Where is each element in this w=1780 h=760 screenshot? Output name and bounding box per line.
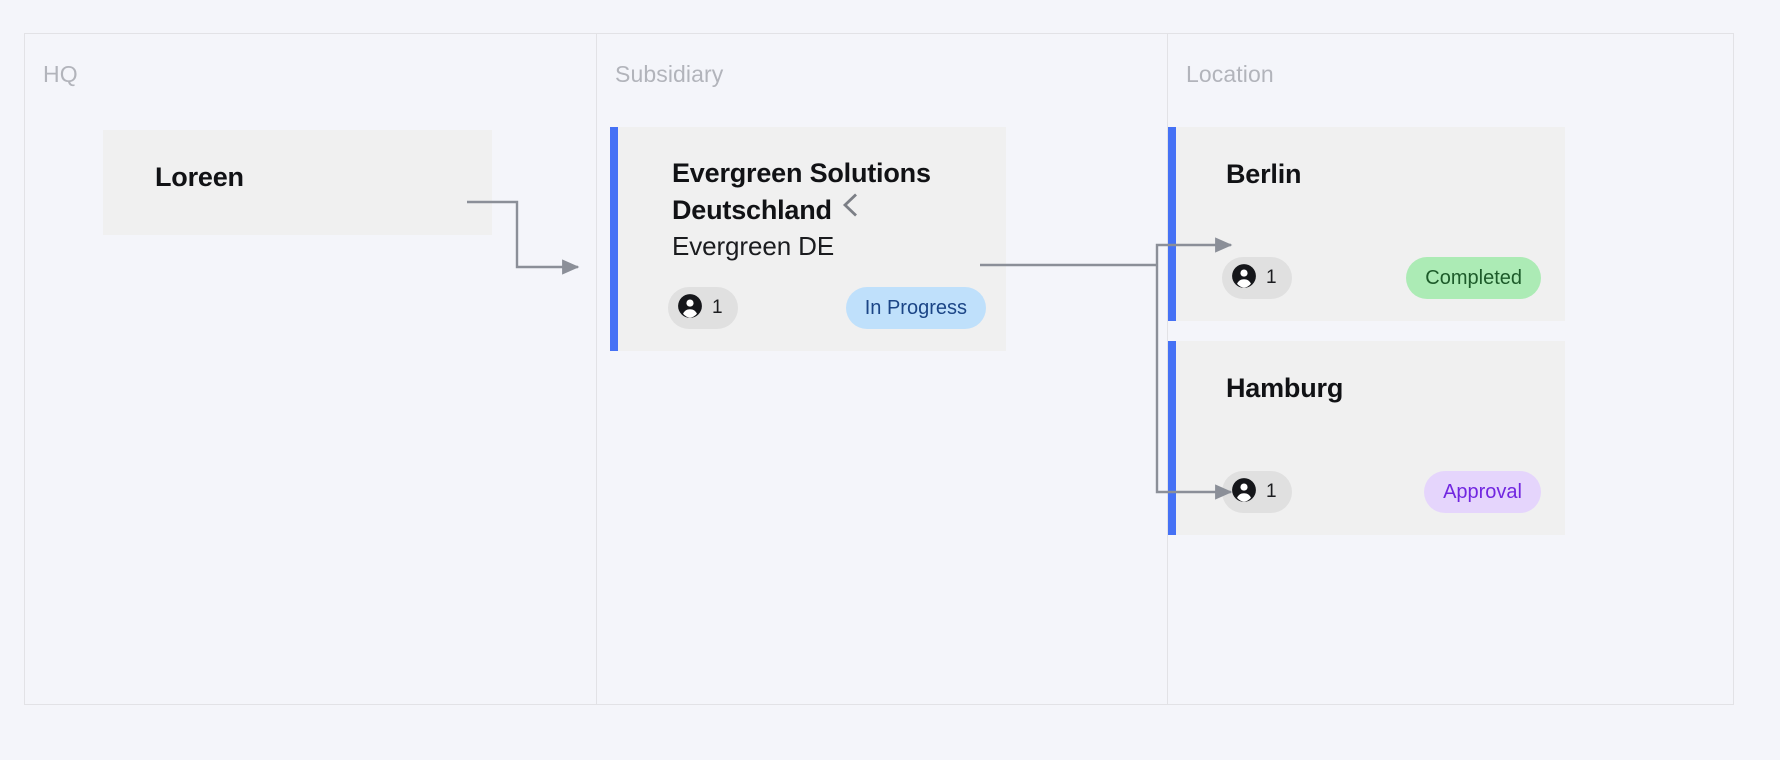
card-accent-bar: [1168, 341, 1176, 535]
card-evergreen-solutions-deutschland[interactable]: Evergreen Solutions Deutschland Evergree…: [610, 127, 1006, 351]
people-count-value: 1: [1266, 481, 1277, 503]
card-title-evergreen: Evergreen Solutions Deutschland: [672, 156, 986, 229]
card-hamburg[interactable]: Hamburg 1 Approval: [1168, 341, 1565, 535]
card-title-text: Evergreen Solutions Deutschland: [672, 158, 931, 225]
column-title-location: Location: [1186, 61, 1274, 88]
card-footer: 1 Approval: [1176, 471, 1541, 513]
card-accent-bar: [1168, 127, 1176, 321]
card-loreen[interactable]: Loreen: [103, 130, 492, 235]
column-hq: HQ Loreen: [25, 34, 596, 704]
card-footer: 1 Completed: [1176, 257, 1541, 299]
card-title-loreen: Loreen: [155, 160, 472, 196]
people-count-value: 1: [1266, 267, 1277, 289]
card-title-hamburg: Hamburg: [1226, 371, 1545, 407]
chevron-left-icon[interactable]: [841, 192, 858, 228]
people-count-chip[interactable]: 1: [1222, 471, 1292, 513]
account-circle-icon: [1231, 263, 1257, 294]
card-body: Berlin 1 Completed: [1176, 127, 1565, 321]
people-count-value: 1: [712, 297, 723, 319]
column-subsidiary: Subsidiary Evergreen Solutions Deutschla…: [596, 34, 1167, 704]
card-title-berlin: Berlin: [1226, 157, 1545, 193]
column-location: Location Berlin 1 Completed: [1167, 34, 1735, 704]
people-count-chip[interactable]: 1: [1222, 257, 1292, 299]
column-title-subsidiary: Subsidiary: [615, 61, 723, 88]
card-accent-bar: [610, 127, 618, 351]
column-title-hq: HQ: [43, 61, 78, 88]
card-berlin[interactable]: Berlin 1 Completed: [1168, 127, 1565, 321]
card-body: Evergreen Solutions Deutschland Evergree…: [618, 127, 1006, 351]
org-chart-canvas: HQ Loreen Subsidiary Evergreen Solutions…: [0, 0, 1780, 760]
people-count-chip[interactable]: 1: [668, 287, 738, 329]
card-body: Loreen: [103, 130, 492, 235]
card-subtitle-evergreen: Evergreen DE: [672, 231, 834, 262]
account-circle-icon: [677, 293, 703, 324]
status-badge-approval[interactable]: Approval: [1424, 471, 1541, 513]
account-circle-icon: [1231, 477, 1257, 508]
org-chart-board: HQ Loreen Subsidiary Evergreen Solutions…: [24, 33, 1734, 705]
card-body: Hamburg 1 Approval: [1176, 341, 1565, 535]
card-footer: 1 In Progress: [618, 287, 986, 329]
status-badge-in-progress[interactable]: In Progress: [846, 287, 986, 329]
status-badge-completed[interactable]: Completed: [1406, 257, 1541, 299]
